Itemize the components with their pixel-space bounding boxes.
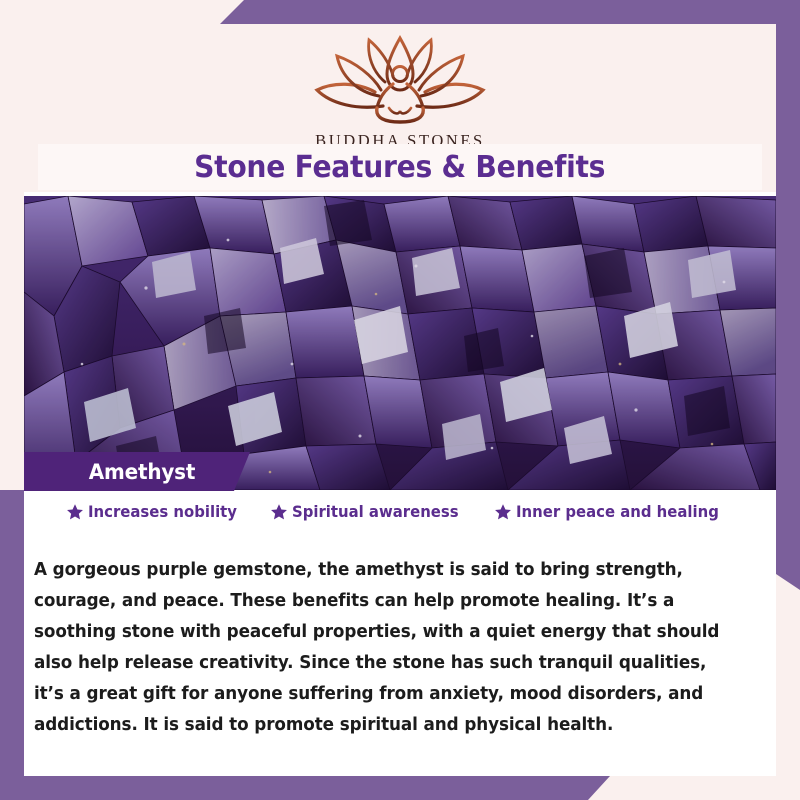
poster-card: BUDDHA STONES Stone Features & Benefits <box>24 24 776 776</box>
poster-header: BUDDHA STONES Stone Features & Benefits <box>24 24 776 192</box>
title-banner: Stone Features & Benefits <box>38 144 762 190</box>
star-icon <box>66 503 84 521</box>
frame-band-right <box>776 24 800 590</box>
frame-band-top <box>220 0 800 24</box>
benefit-label: Spiritual awareness <box>292 502 459 521</box>
poster-root: BUDDHA STONES Stone Features & Benefits <box>0 0 800 800</box>
star-icon <box>270 503 288 521</box>
benefits-list: Increases nobility Spiritual awareness I… <box>24 502 776 521</box>
benefit-item: Inner peace and healing <box>494 502 734 521</box>
star-icon <box>494 503 512 521</box>
benefit-item: Increases nobility <box>66 502 248 521</box>
benefit-item: Spiritual awareness <box>270 502 471 521</box>
frame-band-bottom <box>0 776 610 800</box>
amethyst-crystal-photo <box>24 196 776 490</box>
page-title: Stone Features & Benefits <box>194 150 605 185</box>
benefit-label: Increases nobility <box>88 502 237 521</box>
brand-logo: BUDDHA STONES <box>24 32 776 151</box>
lotus-meditation-icon <box>24 32 776 129</box>
frame-band-left <box>0 490 24 776</box>
benefit-label: Inner peace and healing <box>516 502 719 521</box>
stone-name: Amethyst <box>89 460 195 484</box>
stone-name-badge: Amethyst <box>24 452 250 491</box>
stone-description: A gorgeous purple gemstone, the amethyst… <box>34 555 737 741</box>
